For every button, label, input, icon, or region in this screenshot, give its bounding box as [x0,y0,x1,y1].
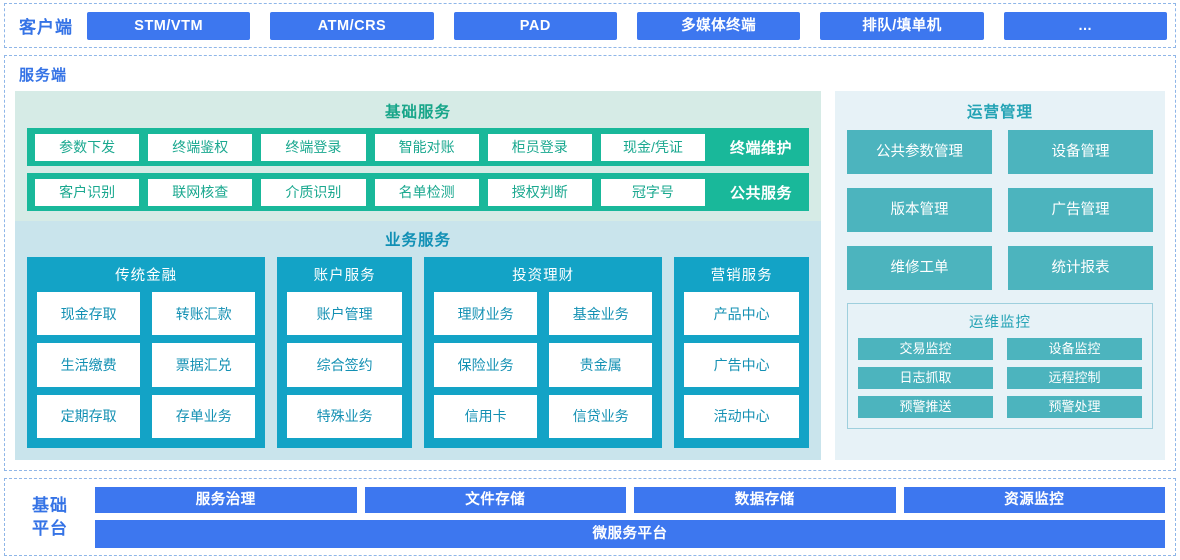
business-group-title: 传统金融 [37,262,255,292]
mon-log-capture[interactable]: 日志抓取 [858,367,993,389]
biz-credit-business[interactable]: 信贷业务 [549,395,652,438]
biz-wealth-management[interactable]: 理财业务 [434,292,537,335]
biz-certificate-deposit[interactable]: 存单业务 [152,395,255,438]
biz-product-center[interactable]: 产品中心 [684,292,799,335]
basic-services-row-terminal-maintenance: 参数下发 终端鉴权 终端登录 智能对账 柜员登录 现金/凭证 终端维护 [27,128,809,166]
basic-services-row-cells: 客户识别 联网核查 介质识别 名单检测 授权判断 冠字号 [27,179,713,206]
biz-living-payment[interactable]: 生活缴费 [37,343,140,386]
business-services-title: 业务服务 [27,226,809,257]
business-group-title: 营销服务 [684,262,799,292]
service-terminal-login[interactable]: 终端登录 [261,134,365,161]
operations-management-panel: 运营管理 公共参数管理 设备管理 版本管理 广告管理 维修工单 统计报表 运维监… [835,91,1165,460]
service-terminal-auth[interactable]: 终端鉴权 [148,134,252,161]
client-item-atm-crs[interactable]: ATM/CRS [270,12,433,40]
client-item-multimedia-terminal[interactable]: 多媒体终端 [637,12,800,40]
biz-campaign-center[interactable]: 活动中心 [684,395,799,438]
platform-file-storage[interactable]: 文件存储 [365,487,627,513]
mon-alert-push[interactable]: 预警推送 [858,396,993,418]
mon-transaction-monitoring[interactable]: 交易监控 [858,338,993,360]
platform-resource-monitoring[interactable]: 资源监控 [904,487,1166,513]
ops-statistical-report[interactable]: 统计报表 [1008,246,1153,290]
service-smart-reconciliation[interactable]: 智能对账 [375,134,479,161]
operations-grid: 公共参数管理 设备管理 版本管理 广告管理 维修工单 统计报表 [847,130,1153,290]
ops-version-management[interactable]: 版本管理 [847,188,992,232]
mon-device-monitoring[interactable]: 设备监控 [1007,338,1142,360]
business-group-cells: 产品中心 广告中心 活动中心 [684,292,799,438]
business-group-cells: 账户管理 综合签约 特殊业务 [287,292,402,438]
business-group-title: 投资理财 [434,262,652,292]
platform-microservice-bar[interactable]: 微服务平台 [95,520,1165,548]
platform-title-line2: 平台 [19,517,81,540]
business-group-cells: 理财业务 基金业务 保险业务 贵金属 信用卡 信贷业务 [434,292,652,438]
client-button-group: STM/VTM ATM/CRS PAD 多媒体终端 排队/填单机 ... [87,12,1167,40]
service-media-recognition[interactable]: 介质识别 [261,179,365,206]
client-item-stm-vtm[interactable]: STM/VTM [87,12,250,40]
service-teller-login[interactable]: 柜员登录 [488,134,592,161]
platform-service-governance[interactable]: 服务治理 [95,487,357,513]
biz-fund-business[interactable]: 基金业务 [549,292,652,335]
client-item-pad[interactable]: PAD [454,12,617,40]
biz-precious-metals[interactable]: 贵金属 [549,343,652,386]
platform-content: 服务治理 文件存储 数据存储 资源监控 微服务平台 [95,487,1165,548]
monitoring-title: 运维监控 [858,308,1142,338]
basic-services-row-label-terminal-maintenance: 终端维护 [713,137,809,158]
ops-repair-work-order[interactable]: 维修工单 [847,246,992,290]
biz-time-deposit[interactable]: 定期存取 [37,395,140,438]
monitoring-box: 运维监控 交易监控 设备监控 日志抓取 远程控制 预警推送 预警处理 [847,303,1153,429]
service-authorization-decision[interactable]: 授权判断 [488,179,592,206]
platform-data-storage[interactable]: 数据存储 [634,487,896,513]
basic-services-row-public-services: 客户识别 联网核查 介质识别 名单检测 授权判断 冠字号 公共服务 [27,173,809,211]
platform-top-row: 服务治理 文件存储 数据存储 资源监控 [95,487,1165,513]
biz-advertising-center[interactable]: 广告中心 [684,343,799,386]
basic-services-row-label-public-services: 公共服务 [713,182,809,203]
client-section-title: 客户端 [19,13,73,38]
service-serial-number[interactable]: 冠字号 [601,179,705,206]
monitoring-grid: 交易监控 设备监控 日志抓取 远程控制 预警推送 预警处理 [858,338,1142,418]
client-item-queue-form-machine[interactable]: 排队/填单机 [820,12,983,40]
platform-section: 基础 平台 服务治理 文件存储 数据存储 资源监控 微服务平台 [4,478,1176,556]
services-column: 基础服务 参数下发 终端鉴权 终端登录 智能对账 柜员登录 现金/凭证 终端维护 [15,91,821,460]
business-services-panel: 业务服务 传统金融 现金存取 转账汇款 生活缴费 票据汇兑 定期存取 存单业务 [15,221,821,460]
client-item-more[interactable]: ... [1004,12,1167,40]
biz-transfer-remittance[interactable]: 转账汇款 [152,292,255,335]
business-group-investment: 投资理财 理财业务 基金业务 保险业务 贵金属 信用卡 信贷业务 [424,257,662,448]
basic-services-panel: 基础服务 参数下发 终端鉴权 终端登录 智能对账 柜员登录 现金/凭证 终端维护 [15,91,821,221]
biz-insurance-business[interactable]: 保险业务 [434,343,537,386]
basic-services-row-cells: 参数下发 终端鉴权 终端登录 智能对账 柜员登录 现金/凭证 [27,134,713,161]
service-online-verification[interactable]: 联网核查 [148,179,252,206]
ops-device-management[interactable]: 设备管理 [1008,130,1153,174]
service-cash-voucher[interactable]: 现金/凭证 [601,134,705,161]
business-group-account-services: 账户服务 账户管理 综合签约 特殊业务 [277,257,412,448]
server-body: 基础服务 参数下发 终端鉴权 终端登录 智能对账 柜员登录 现金/凭证 终端维护 [15,91,1165,460]
business-group-cells: 现金存取 转账汇款 生活缴费 票据汇兑 定期存取 存单业务 [37,292,255,438]
biz-credit-card[interactable]: 信用卡 [434,395,537,438]
ops-public-parameter-management[interactable]: 公共参数管理 [847,130,992,174]
basic-services-title: 基础服务 [27,97,809,128]
server-section-title: 服务端 [19,64,1165,85]
business-group-traditional-finance: 传统金融 现金存取 转账汇款 生活缴费 票据汇兑 定期存取 存单业务 [27,257,265,448]
biz-special-business[interactable]: 特殊业务 [287,395,402,438]
client-section: 客户端 STM/VTM ATM/CRS PAD 多媒体终端 排队/填单机 ... [4,3,1176,48]
biz-bill-exchange[interactable]: 票据汇兑 [152,343,255,386]
mon-remote-control[interactable]: 远程控制 [1007,367,1142,389]
mon-alert-handling[interactable]: 预警处理 [1007,396,1142,418]
biz-account-management[interactable]: 账户管理 [287,292,402,335]
platform-title-line1: 基础 [19,494,81,517]
service-param-distribution[interactable]: 参数下发 [35,134,139,161]
server-section: 服务端 基础服务 参数下发 终端鉴权 终端登录 智能对账 柜员登录 现金/凭证 [4,55,1176,471]
ops-advertising-management[interactable]: 广告管理 [1008,188,1153,232]
architecture-diagram: 客户端 STM/VTM ATM/CRS PAD 多媒体终端 排队/填单机 ...… [0,0,1180,560]
service-watchlist-check[interactable]: 名单检测 [375,179,479,206]
business-group-marketing: 营销服务 产品中心 广告中心 活动中心 [674,257,809,448]
business-services-groups: 传统金融 现金存取 转账汇款 生活缴费 票据汇兑 定期存取 存单业务 [27,257,809,448]
business-group-title: 账户服务 [287,262,402,292]
service-customer-identification[interactable]: 客户识别 [35,179,139,206]
biz-cash-deposit-withdrawal[interactable]: 现金存取 [37,292,140,335]
biz-comprehensive-signing[interactable]: 综合签约 [287,343,402,386]
platform-section-title: 基础 平台 [19,494,81,540]
operations-management-title: 运营管理 [847,97,1153,130]
